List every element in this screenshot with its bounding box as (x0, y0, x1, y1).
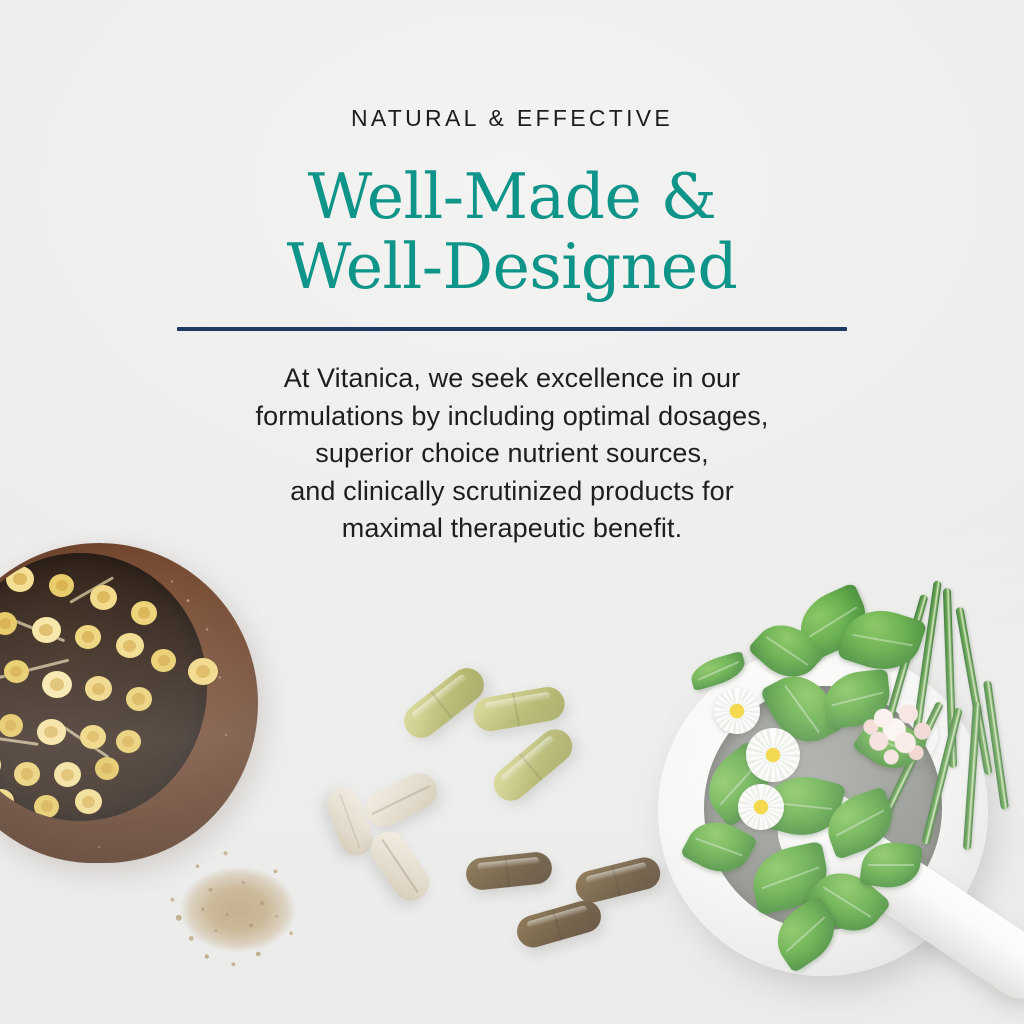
brown-capsule (572, 854, 663, 906)
rosemary-sprig (955, 607, 992, 776)
daisy-flower (738, 784, 784, 830)
rosemary-sprig (910, 580, 942, 749)
body-line-2: formulations by including optimal dosage… (0, 398, 1024, 436)
mint-leaf (859, 838, 923, 892)
rosemary-sprig (880, 701, 944, 821)
body-line-5: maximal therapeutic benefit. (0, 510, 1024, 548)
bowl-outer-rim (0, 543, 258, 863)
cream-tablet (364, 824, 436, 907)
mint-leaf (802, 858, 892, 946)
pink-flower-cluster (860, 698, 938, 770)
bowl-interior (0, 553, 207, 822)
mint-leaf (852, 707, 929, 780)
mint-leaf (680, 810, 758, 883)
mint-leaf (694, 740, 784, 828)
rosemary-sprig (943, 588, 957, 768)
headline-line-2: Well-Designed (0, 232, 1024, 302)
powder-texture (183, 863, 294, 951)
herbal-powder-pile (172, 855, 304, 960)
rosemary-sprig (963, 702, 981, 850)
mint-leaf (837, 600, 928, 681)
pestle (781, 791, 1024, 1010)
bowl-rim-speckles (0, 543, 258, 863)
rosemary-sprig (983, 680, 1009, 810)
mint-leaf (760, 768, 846, 844)
body-line-3: superior choice nutrient sources, (0, 435, 1024, 473)
daisy-flower (746, 728, 800, 782)
mint-leaf (821, 669, 892, 730)
mortar-well (704, 686, 942, 930)
dried-chamomile-bowl (0, 543, 258, 863)
section-divider (177, 327, 847, 331)
mint-leaf (747, 612, 827, 691)
green-capsule (471, 684, 568, 733)
green-capsule (397, 661, 490, 744)
daisy-flower (714, 688, 760, 734)
mint-leaf (765, 895, 847, 974)
page-title: Well-Made & Well-Designed (0, 162, 1024, 302)
mint-leaf (819, 786, 901, 860)
rosemary-sprig (921, 707, 963, 845)
mint-leaf (747, 841, 834, 915)
body-line-1: At Vitanica, we seek excellence in our (0, 360, 1024, 398)
mortar-bowl (658, 646, 988, 976)
mint-leaf (790, 582, 877, 662)
chamomile-flowers (0, 553, 207, 822)
brown-capsule (465, 851, 554, 892)
promo-banner: NATURAL & EFFECTIVE Well-Made & Well-Des… (0, 0, 1024, 1024)
green-capsule (487, 722, 579, 807)
rosemary-sprig (879, 594, 928, 740)
mint-leaf (759, 664, 844, 755)
mint-leaf (688, 651, 749, 691)
cream-tablet (323, 783, 378, 860)
pestle-head (761, 772, 885, 895)
headline-line-1: Well-Made & (0, 162, 1024, 232)
cream-tablet (359, 767, 443, 833)
body-paragraph: At Vitanica, we seek excellence in our f… (0, 360, 1024, 548)
eyebrow-label: NATURAL & EFFECTIVE (0, 107, 1024, 130)
mortar-and-pestle-with-herbs (648, 636, 1024, 1024)
body-line-4: and clinically scrutinized products for (0, 473, 1024, 511)
brown-capsule (513, 897, 604, 951)
photo-background-blend (0, 504, 1024, 1024)
fresh-herbs (648, 636, 1024, 1024)
